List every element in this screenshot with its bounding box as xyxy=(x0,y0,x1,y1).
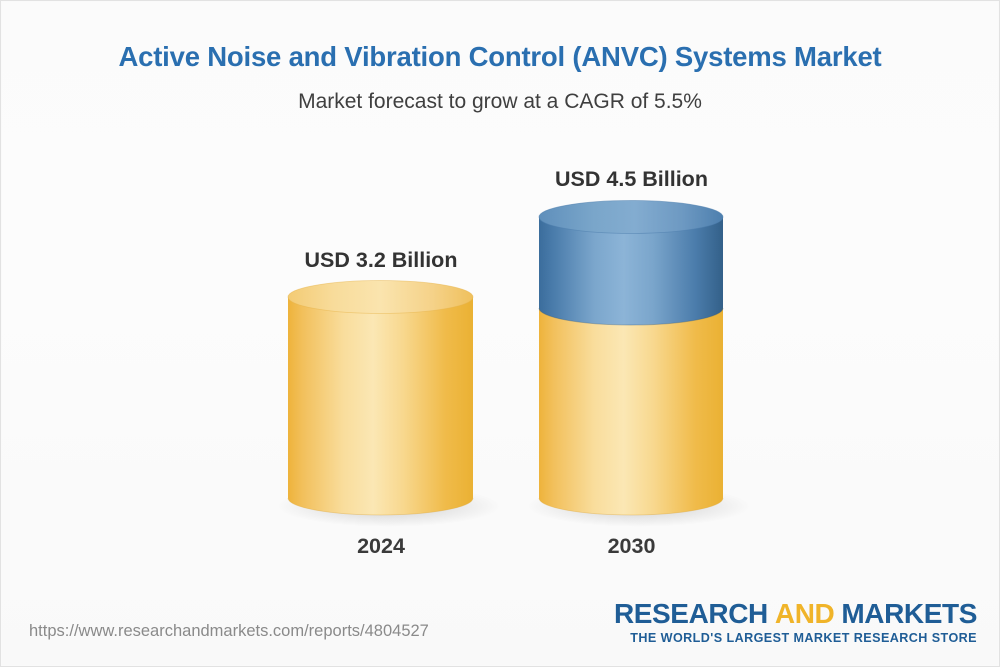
report-url[interactable]: https://www.researchandmarkets.com/repor… xyxy=(29,622,429,641)
chart-canvas: Active Noise and Vibration Control (ANVC… xyxy=(0,0,1000,667)
logo-tagline: THE WORLD'S LARGEST MARKET RESEARCH STOR… xyxy=(614,631,977,645)
bar-value-label-2024: USD 3.2 Billion xyxy=(288,248,474,273)
category-label-2030: 2030 xyxy=(539,534,724,559)
logo-word-research: RESEARCH xyxy=(614,598,768,629)
bar-2030-base-body xyxy=(539,308,723,515)
bar-2030[interactable] xyxy=(539,201,723,516)
brand-logo[interactable]: RESEARCHANDMARKETS THE WORLD'S LARGEST M… xyxy=(614,599,977,645)
bar-2024[interactable] xyxy=(288,281,473,515)
bar-chart-graphic xyxy=(1,1,1000,667)
logo-word-and: AND xyxy=(768,598,841,629)
category-label-2024: 2024 xyxy=(288,534,474,559)
logo-wordmark: RESEARCHANDMARKETS xyxy=(614,599,977,628)
bar-value-label-2030: USD 4.5 Billion xyxy=(539,167,724,192)
bar-2024-body xyxy=(288,297,473,515)
logo-word-markets: MARKETS xyxy=(841,598,977,629)
